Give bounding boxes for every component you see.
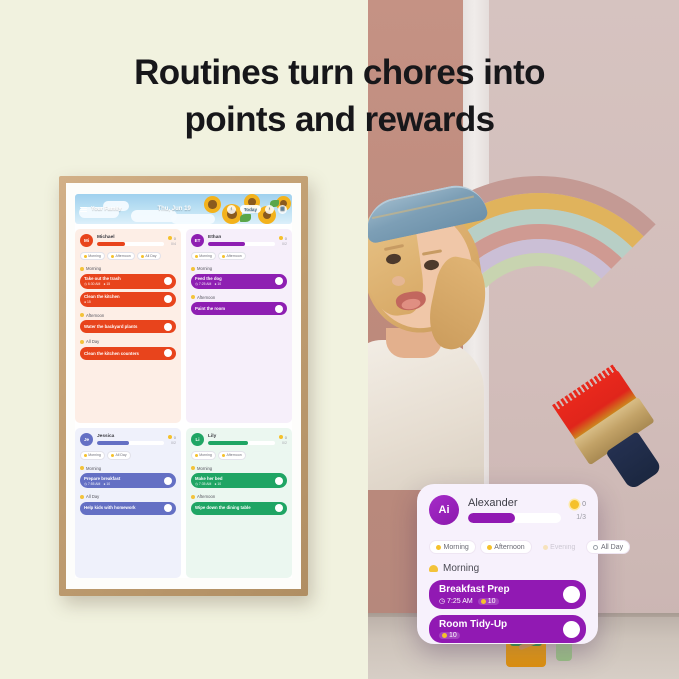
task-complete-toggle[interactable] xyxy=(563,586,580,603)
task-row[interactable]: Water the backyard plants xyxy=(80,320,176,333)
today-button[interactable]: Today xyxy=(240,205,261,213)
task-meta: ● 15 xyxy=(84,300,161,304)
section-icon xyxy=(80,466,84,470)
filter-chip-afternoon[interactable]: Afternoon xyxy=(107,252,134,260)
task-row[interactable]: Help kids with homework xyxy=(80,502,176,515)
points-value: 0 xyxy=(168,236,176,241)
poster-app-screenshot: Your Family Thu, Jun 19 ‹ Today › ▦ MiMi… xyxy=(75,194,292,578)
section-label: Morning xyxy=(197,266,212,271)
task-main: Water the backyard plants xyxy=(84,324,161,329)
section-label: Afternoon xyxy=(197,295,215,300)
time-filter-chips: MorningAfternoon xyxy=(191,252,287,260)
filter-chip-afternoon[interactable]: Afternoon xyxy=(218,252,245,260)
task-time: ◷ 7:55 AM xyxy=(84,482,100,486)
task-fraction: 0/4 xyxy=(168,242,176,246)
section-label: Morning xyxy=(86,266,101,271)
points-number: 0 xyxy=(285,236,287,241)
chip-label: Evening xyxy=(550,544,575,551)
task-row[interactable]: Prepare breakfast◷ 7:55 AM● 10 xyxy=(80,473,176,488)
task-complete-toggle[interactable] xyxy=(164,277,172,285)
chip-label: Afternoon xyxy=(227,453,242,457)
section-heading: Morning xyxy=(191,266,287,271)
task-complete-toggle[interactable] xyxy=(164,323,172,331)
filter-chip-all-day[interactable]: All Day xyxy=(137,252,160,260)
child-nose xyxy=(392,276,405,286)
task-points: 10 xyxy=(439,632,460,639)
section-heading: Morning xyxy=(429,563,586,574)
section-heading: Afternoon xyxy=(80,313,176,318)
task-title: Take out the trash xyxy=(84,276,161,281)
member-header: Ai Alexander 0 1/3 xyxy=(429,495,586,525)
avatar: ET xyxy=(191,234,204,247)
section-label: All Day xyxy=(86,339,99,344)
task-meta: ◷ 7:25 AM● 10 xyxy=(195,282,272,286)
sun-points-icon xyxy=(279,435,284,440)
points-number: 0 xyxy=(174,236,176,241)
progress-bar xyxy=(97,242,164,247)
member-progress-area: Jessica xyxy=(97,434,164,445)
avatar: Li xyxy=(191,433,204,446)
sunrise-icon xyxy=(429,565,438,572)
chip-dot-icon xyxy=(141,255,144,258)
task-list: Breakfast Prep◷ 7:25 AM10Room Tidy-Up10 xyxy=(429,580,586,643)
task-points: ● 15 xyxy=(84,300,91,304)
task-title: Make her bed xyxy=(195,476,272,481)
points-area: 00/4 xyxy=(168,236,176,246)
chip-label: Morning xyxy=(199,453,212,457)
section-label: Morning xyxy=(443,563,479,574)
task-row[interactable]: Take out the trash◷ 6:30 AM● 15 xyxy=(80,274,176,289)
section-icon xyxy=(80,267,84,271)
task-complete-toggle[interactable] xyxy=(275,504,283,512)
section-label: Morning xyxy=(197,466,212,471)
task-title: Breakfast Prep xyxy=(439,584,557,595)
task-meta: ◷ 7:35 AM● 10 xyxy=(195,482,272,486)
points-area: 00/2 xyxy=(168,435,176,445)
page-title: Routines turn chores into points and rew… xyxy=(0,50,679,143)
chip-label: Afternoon xyxy=(227,254,242,258)
member-card-grid: MiMichael00/4MorningAfternoonAll DayMorn… xyxy=(75,224,292,578)
task-complete-toggle[interactable] xyxy=(164,477,172,485)
section-heading: All Day xyxy=(80,494,176,499)
child-shirt xyxy=(368,340,484,490)
time-filter-chips: MorningAfternoon xyxy=(191,451,287,459)
chip-dot-icon xyxy=(487,545,492,550)
chip-label: Morning xyxy=(88,453,101,457)
sun-points-icon xyxy=(168,236,173,241)
task-row[interactable]: Paint the room xyxy=(191,302,287,315)
picture-frame: Your Family Thu, Jun 19 ‹ Today › ▦ MiMi… xyxy=(59,176,308,596)
task-title: Clean the kitchen counters xyxy=(84,351,161,356)
points-dot-icon xyxy=(442,633,447,638)
task-main: Paint the room xyxy=(195,306,272,311)
time-filter-chips: MorningAfternoonEveningAll Day xyxy=(429,540,586,554)
task-main: Make her bed◷ 7:35 AM● 10 xyxy=(195,476,272,486)
filter-chip-afternoon[interactable]: Afternoon xyxy=(218,451,245,459)
task-time: ◷ 6:30 AM xyxy=(84,282,100,286)
task-fraction: 1/3 xyxy=(570,514,586,521)
screenshot-stage: Routines turn chores into points and rew… xyxy=(0,0,679,679)
progress-bar xyxy=(97,441,164,446)
filter-chip-evening[interactable]: Evening xyxy=(536,540,583,554)
section-heading: All Day xyxy=(80,339,176,344)
task-main: Clean the kitchen counters xyxy=(84,351,161,356)
family-title: Your Family xyxy=(91,206,121,212)
task-fraction: 0/2 xyxy=(168,441,176,445)
avatar: Mi xyxy=(80,234,93,247)
task-row[interactable]: Clean the kitchen counters xyxy=(80,347,176,360)
member-header: MiMichael00/4 xyxy=(80,234,176,247)
task-main: Wipe down the dining table xyxy=(195,505,272,510)
task-main: Room Tidy-Up10 xyxy=(439,619,557,639)
progress-bar xyxy=(468,513,561,523)
chip-dot-icon xyxy=(111,454,114,457)
calendar-icon[interactable]: ▦ xyxy=(278,205,287,214)
frame-mat: Your Family Thu, Jun 19 ‹ Today › ▦ MiMi… xyxy=(66,183,301,589)
task-complete-toggle[interactable] xyxy=(164,504,172,512)
chip-dot-icon xyxy=(111,255,114,258)
task-row[interactable]: Room Tidy-Up10 xyxy=(429,615,586,643)
chip-label: Afternoon xyxy=(494,544,524,551)
featured-member-card: Ai Alexander 0 1/3 MorningAfternoonEveni… xyxy=(417,484,598,644)
points-value: 0 xyxy=(279,435,287,440)
section-label: Afternoon xyxy=(197,494,215,499)
section-heading: Afternoon xyxy=(191,295,287,300)
task-row[interactable]: Make her bed◷ 7:35 AM● 10 xyxy=(191,473,287,488)
points-value: 0 xyxy=(279,236,287,241)
points-value: 0 xyxy=(168,435,176,440)
task-title: Paint the room xyxy=(195,306,272,311)
filter-chip-afternoon[interactable]: Afternoon xyxy=(480,540,532,554)
task-complete-toggle[interactable] xyxy=(164,349,172,357)
chip-label: All Day xyxy=(116,453,127,457)
section-heading: Afternoon xyxy=(191,494,287,499)
section-heading: Morning xyxy=(80,466,176,471)
section-heading: Morning xyxy=(191,466,287,471)
app-banner: Your Family Thu, Jun 19 ‹ Today › ▦ xyxy=(75,194,292,224)
progress-bar xyxy=(208,242,275,247)
member-name: Lily xyxy=(208,434,275,439)
task-complete-toggle[interactable] xyxy=(275,305,283,313)
task-time: ◷ 7:35 AM xyxy=(195,482,211,486)
chip-dot-icon xyxy=(436,545,441,550)
task-meta: ◷ 7:25 AM10 xyxy=(439,597,557,605)
task-main: Take out the trash◷ 6:30 AM● 15 xyxy=(84,276,161,286)
task-points: ● 15 xyxy=(103,282,110,286)
section-icon xyxy=(191,466,195,470)
chip-dot-icon xyxy=(222,255,225,258)
task-title: Wipe down the dining table xyxy=(195,505,272,510)
points-area: 0 1/3 xyxy=(570,500,586,521)
task-row[interactable]: Breakfast Prep◷ 7:25 AM10 xyxy=(429,580,586,609)
task-time: ◷ 7:25 AM xyxy=(439,597,473,605)
hamburger-icon[interactable] xyxy=(80,207,87,212)
task-fraction: 0/2 xyxy=(279,441,287,445)
headline-line-2: points and rewards xyxy=(0,97,679,144)
task-row[interactable]: Feed the dog◷ 7:25 AM● 10 xyxy=(191,274,287,289)
banner-toolbar: Your Family Thu, Jun 19 ‹ Today › ▦ xyxy=(75,194,292,224)
chip-label: Afternoon xyxy=(116,254,131,258)
chip-dot-icon xyxy=(222,454,225,457)
filter-chip-morning[interactable]: Morning xyxy=(80,252,105,260)
task-main: Feed the dog◷ 7:25 AM● 10 xyxy=(195,276,272,286)
filter-chip-morning[interactable]: Morning xyxy=(80,451,105,459)
section-icon xyxy=(191,295,195,299)
member-header: ETEthan00/2 xyxy=(191,234,287,247)
task-main: Prepare breakfast◷ 7:55 AM● 10 xyxy=(84,476,161,486)
member-name: Alexander xyxy=(468,497,561,509)
task-complete-toggle[interactable] xyxy=(275,277,283,285)
chip-label: Morning xyxy=(88,254,101,258)
member-name: Michael xyxy=(97,235,164,240)
task-title: Water the backyard plants xyxy=(84,324,161,329)
time-filter-chips: MorningAfternoonAll Day xyxy=(80,252,176,260)
task-complete-toggle[interactable] xyxy=(164,295,172,303)
chip-label: All Day xyxy=(145,254,156,258)
task-meta: ◷ 7:55 AM● 10 xyxy=(84,482,161,486)
current-date: Thu, Jun 19 xyxy=(125,206,222,212)
section-icon xyxy=(191,495,195,499)
task-fraction: 0/2 xyxy=(279,242,287,246)
chip-label: All Day xyxy=(601,544,623,551)
task-title: Prepare breakfast xyxy=(84,476,161,481)
headline-line-1: Routines turn chores into xyxy=(0,50,679,97)
sun-points-icon xyxy=(570,500,579,509)
chip-dot-icon xyxy=(84,255,87,258)
task-title: Room Tidy-Up xyxy=(439,619,557,630)
section-icon xyxy=(191,267,195,271)
chip-dot-icon xyxy=(593,545,598,550)
avatar: Je xyxy=(80,433,93,446)
task-meta: 10 xyxy=(439,632,557,639)
filter-chip-all-day[interactable]: All Day xyxy=(107,451,130,459)
task-complete-toggle[interactable] xyxy=(275,477,283,485)
chip-label: Morning xyxy=(444,544,469,551)
points-area: 00/2 xyxy=(279,435,287,445)
section-icon xyxy=(80,313,84,317)
task-main: Help kids with homework xyxy=(84,505,161,510)
chip-dot-icon xyxy=(84,454,87,457)
section-label: Morning xyxy=(86,466,101,471)
next-day-button[interactable]: › xyxy=(265,205,274,214)
task-time: ◷ 7:25 AM xyxy=(195,282,211,286)
section-heading: Morning xyxy=(80,266,176,271)
chip-label: Morning xyxy=(199,254,212,258)
member-card[interactable]: ETEthan00/2MorningAfternoonMorningFeed t… xyxy=(186,229,292,423)
task-complete-toggle[interactable] xyxy=(563,621,580,638)
member-progress-area: Lily xyxy=(208,434,275,445)
time-filter-chips: MorningAll Day xyxy=(80,451,176,459)
chip-dot-icon xyxy=(543,545,548,550)
member-header: JeJessica00/2 xyxy=(80,433,176,446)
filter-chip-morning[interactable]: Morning xyxy=(429,540,476,554)
task-points: ● 10 xyxy=(103,482,110,486)
task-points: ● 10 xyxy=(214,282,221,286)
filter-chip-morning[interactable]: Morning xyxy=(191,451,216,459)
points-number: 0 xyxy=(285,435,287,440)
section-label: Afternoon xyxy=(86,313,104,318)
points-number: 0 xyxy=(174,435,176,440)
member-progress-area: Ethan xyxy=(208,235,275,246)
member-card[interactable]: JeJessica00/2MorningAll DayMorningPrepar… xyxy=(75,428,181,578)
chip-dot-icon xyxy=(195,454,198,457)
task-meta: ◷ 6:30 AM● 15 xyxy=(84,282,161,286)
points-area: 00/2 xyxy=(279,236,287,246)
task-title: Feed the dog xyxy=(195,276,272,281)
task-title: Clean the kitchen xyxy=(84,294,161,299)
member-progress-area: Michael xyxy=(97,235,164,246)
avatar: Ai xyxy=(429,495,459,525)
filter-chip-all-day[interactable]: All Day xyxy=(586,540,630,554)
child-photo-subject xyxy=(368,188,502,488)
sun-points-icon xyxy=(279,236,284,241)
section-icon xyxy=(80,340,84,344)
member-header: LiLily00/2 xyxy=(191,433,287,446)
progress-bar xyxy=(208,441,275,446)
member-name: Jessica xyxy=(97,434,164,439)
member-name: Ethan xyxy=(208,235,275,240)
member-card[interactable]: MiMichael00/4MorningAfternoonAll DayMorn… xyxy=(75,229,181,423)
task-points: 10 xyxy=(478,598,499,605)
sun-points-icon xyxy=(168,435,173,440)
points-number: 0 xyxy=(582,501,586,508)
task-points: ● 10 xyxy=(214,482,221,486)
points-dot-icon xyxy=(481,599,486,604)
task-title: Help kids with homework xyxy=(84,505,161,510)
member-card[interactable]: LiLily00/2MorningAfternoonMorningMake he… xyxy=(186,428,292,578)
prev-day-button[interactable]: ‹ xyxy=(227,205,236,214)
section-label: All Day xyxy=(86,494,99,499)
section-icon xyxy=(80,495,84,499)
member-progress-area: Alexander xyxy=(468,497,561,523)
task-row[interactable]: Wipe down the dining table xyxy=(191,502,287,515)
task-main: Breakfast Prep◷ 7:25 AM10 xyxy=(439,584,557,605)
task-row[interactable]: Clean the kitchen● 15 xyxy=(80,292,176,307)
points-value: 0 xyxy=(570,500,586,509)
chip-dot-icon xyxy=(195,255,198,258)
filter-chip-morning[interactable]: Morning xyxy=(191,252,216,260)
task-main: Clean the kitchen● 15 xyxy=(84,294,161,304)
